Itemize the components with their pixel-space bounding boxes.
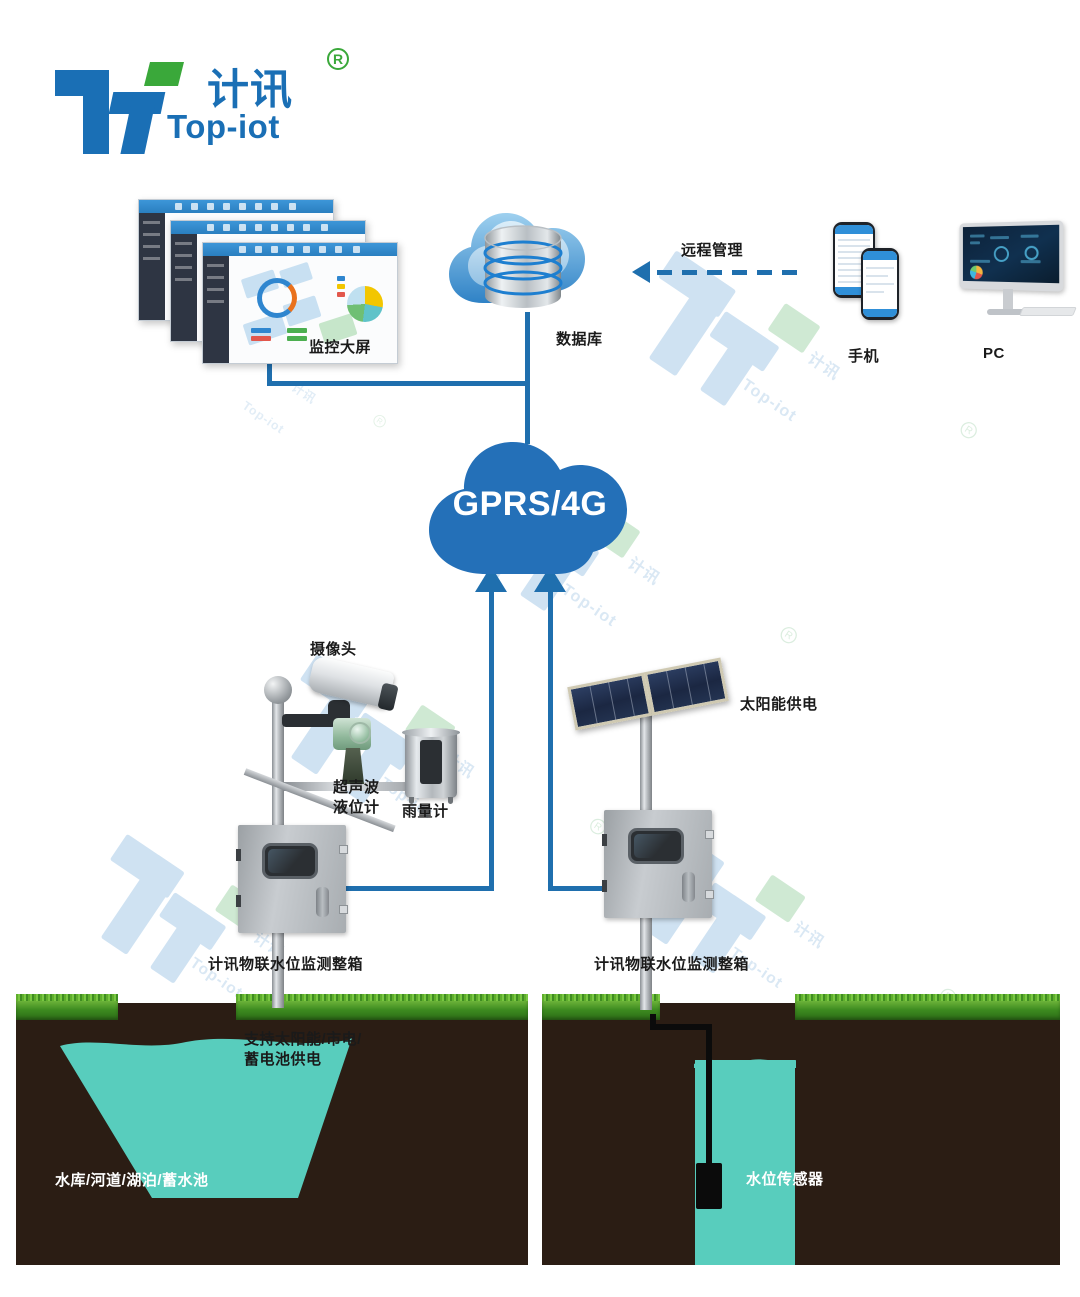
logo-en-text: Top-iot <box>167 108 280 146</box>
cabinet-handle-right <box>682 872 695 902</box>
cabinet-handle-left <box>316 887 329 917</box>
cabinet-latch <box>602 880 607 892</box>
monitor-bus-line <box>267 381 528 386</box>
cabinet-left-label: 计讯物联水位监测整箱 <box>208 953 363 974</box>
soil-right <box>542 1003 1060 1265</box>
cabinet-left-uplink-h <box>344 886 494 891</box>
remote-management-line <box>657 270 802 275</box>
camera-label: 摄像头 <box>310 638 357 659</box>
phone-app-header <box>863 251 897 260</box>
cabinet-right-uplink-v <box>548 592 553 889</box>
rain-gauge-slot <box>420 740 442 784</box>
dashboard-gauge <box>257 278 297 318</box>
registered-icon: R <box>327 48 349 70</box>
grass-left-far <box>16 998 118 1020</box>
cabinet-hinge <box>705 830 714 839</box>
pc-workstation <box>955 222 1075 332</box>
pc-label: PC <box>983 345 1005 362</box>
dashboard-pie-chart <box>347 286 383 322</box>
screen-sidebar <box>203 256 229 363</box>
remote-management-label: 远程管理 <box>681 239 743 260</box>
ultrasonic-sensor-dial <box>349 722 371 744</box>
screen-toolbar <box>203 243 397 256</box>
database-label: 数据库 <box>556 328 603 349</box>
mobile-phone-front <box>861 248 899 320</box>
cabinet-right-label: 计讯物联水位监测整箱 <box>594 953 749 974</box>
cabinet-right-uplink-h <box>548 886 606 891</box>
screen-toolbar <box>171 221 365 234</box>
water-level-sensor-probe <box>696 1163 722 1209</box>
monitoring-cabinet-left <box>238 825 346 933</box>
rain-gauge-label: 雨量计 <box>402 800 449 821</box>
mobile-label: 手机 <box>848 345 879 366</box>
cabinet-hinge <box>339 845 348 854</box>
monitor-wall-label: 监控大屏 <box>309 336 371 357</box>
solar-panel-half-right <box>644 658 729 716</box>
mast-cap-left <box>264 676 292 704</box>
water-body-label: 水库/河道/湖泊/蓄水池 <box>55 1169 209 1190</box>
sensor-cable-drop <box>706 1024 712 1174</box>
phone-screen <box>863 251 897 317</box>
screen-sidebar <box>171 234 197 341</box>
power-note-label: 支持太阳能/市电/ 蓄电池供电 <box>244 1030 424 1071</box>
remote-management-arrow-icon <box>632 261 650 283</box>
screen-sidebar <box>139 213 165 320</box>
cabinet-latch <box>602 834 607 846</box>
cabinet-latch <box>236 849 241 861</box>
phone-app-header <box>835 225 873 234</box>
cabinet-hinge <box>339 905 348 914</box>
cabinet-window-right <box>628 828 684 864</box>
pc-monitor-display <box>963 225 1059 284</box>
gprs-cloud-label: GPRS/4G <box>425 485 635 524</box>
cabinet-window-left <box>262 843 318 879</box>
grass-right-near <box>795 998 1060 1020</box>
phone-app-footer <box>863 309 897 317</box>
pc-keyboard <box>1019 307 1077 316</box>
water-level-sensor-label: 水位传感器 <box>746 1168 824 1189</box>
diagram-canvas: 计讯 R Top-iot 计讯 Top-iot R 计讯 Top-iot R <box>0 0 1080 1297</box>
cabinet-left-uplink-v <box>489 592 494 889</box>
cabinet-hinge <box>705 890 714 899</box>
sensor-cable-horizontal <box>650 1024 712 1030</box>
solar-power-label: 太阳能供电 <box>740 693 818 714</box>
brand-logo: 计讯 R Top-iot <box>55 48 325 158</box>
pc-pie-chart <box>970 266 983 280</box>
screen-toolbar <box>139 200 333 213</box>
pc-monitor-neck <box>1003 289 1013 311</box>
database-cloud-icon <box>443 203 603 321</box>
monitoring-cabinet-right <box>604 810 712 918</box>
db-to-cloud-line <box>525 312 530 444</box>
rain-gauge-rim <box>402 728 460 737</box>
cabinet-latch <box>236 895 241 907</box>
